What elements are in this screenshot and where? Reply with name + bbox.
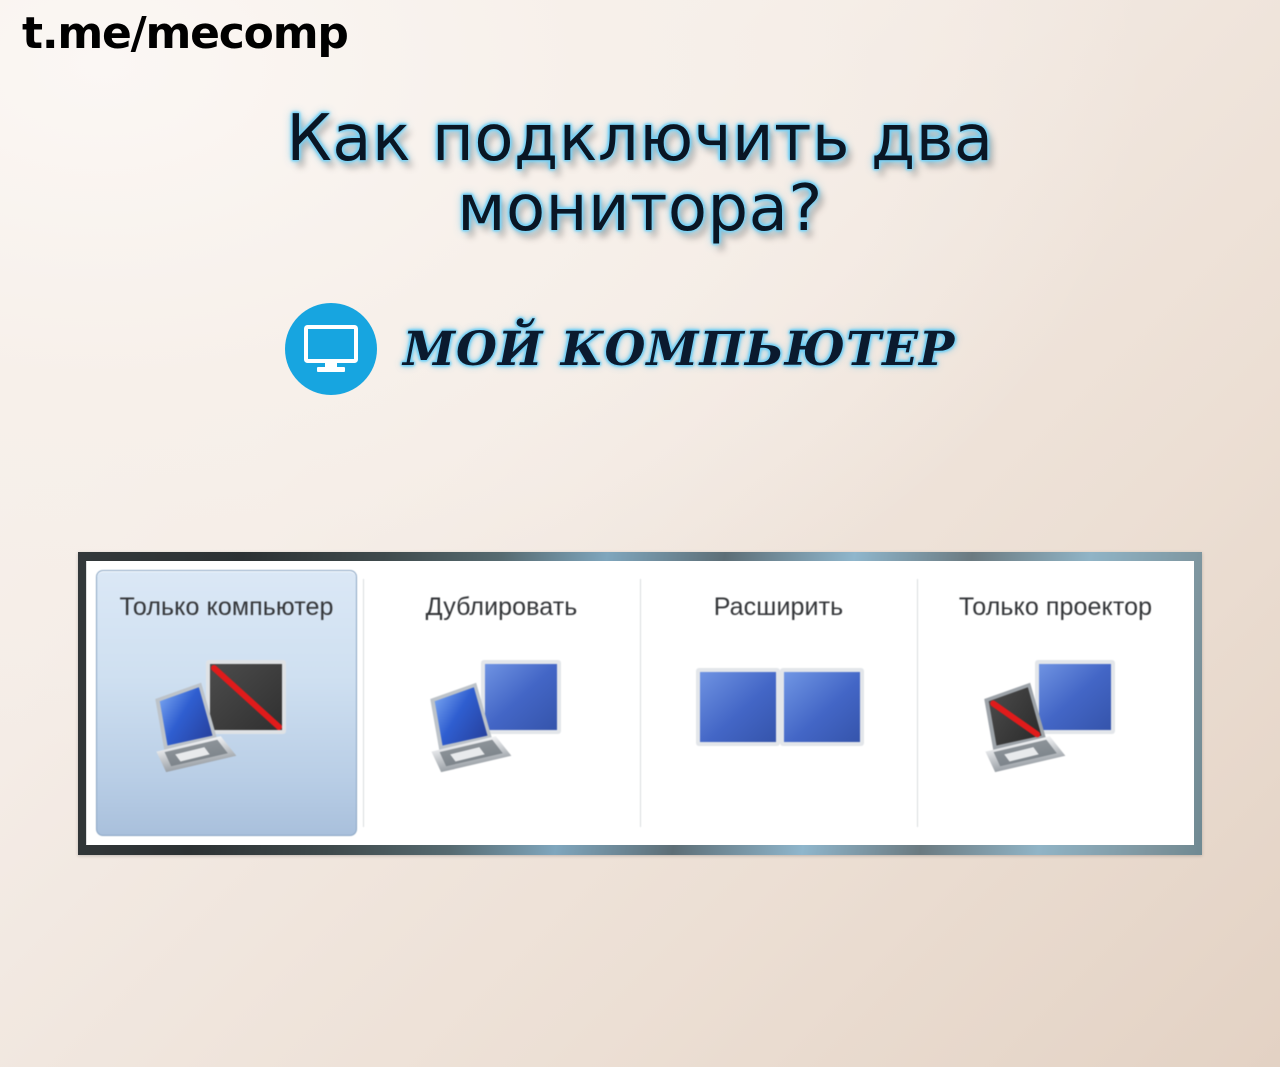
two-monitors-on-icon (684, 640, 874, 790)
option-label: Только проектор (959, 595, 1152, 620)
brand-badge (285, 303, 377, 395)
brand-name: МОЙ КОМПЬЮТЕР (403, 326, 955, 373)
option-tile[interactable]: Только компьютер (96, 570, 357, 836)
option-tile[interactable]: Дублировать (363, 561, 640, 845)
display-mode-screenshot: Только компьютер (78, 552, 1202, 855)
option-label: Дублировать (426, 595, 578, 620)
display-mode-option-computer-only[interactable]: Только компьютер (86, 561, 363, 845)
laptop-off-monitor-on-icon (961, 640, 1151, 790)
monitor-icon (303, 324, 359, 374)
display-mode-panel: Только компьютер (86, 561, 1194, 845)
slide-background (0, 0, 1280, 1067)
display-mode-option-duplicate[interactable]: Дублировать (363, 561, 640, 845)
option-tile[interactable]: Только проектор (917, 561, 1194, 845)
option-label: Расширить (714, 595, 844, 620)
display-mode-option-extend[interactable]: Расширить (640, 561, 917, 845)
option-tile[interactable]: Расширить (640, 561, 917, 845)
option-label: Только компьютер (119, 595, 333, 620)
brand-row: МОЙ КОМПЬЮТЕР (285, 303, 955, 395)
laptop-on-monitor-off-icon (132, 640, 322, 790)
laptop-on-monitor-on-icon (407, 640, 597, 790)
display-mode-option-projector-only[interactable]: Только проектор (917, 561, 1194, 845)
channel-watermark: t.me/mecomp (22, 12, 348, 56)
